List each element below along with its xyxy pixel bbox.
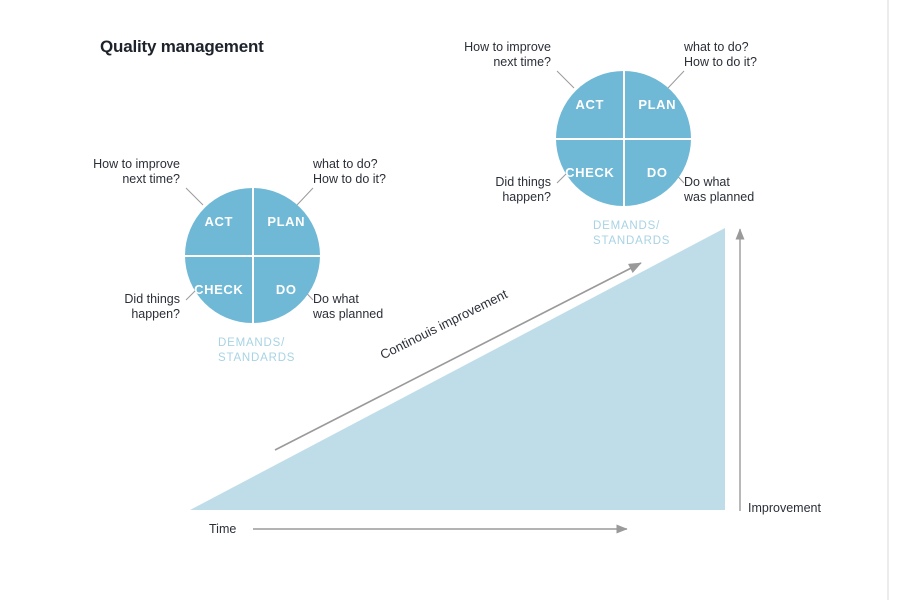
wheel-quadrant-check-label: CHECK [194,282,243,297]
wheel-quadrant-act[interactable]: ACT [185,188,253,256]
callout-check-lower-left: Did things happen? [62,292,180,322]
diagram-canvas: Quality management ACT [0,0,900,600]
callout-plan-upper-right: what to do? How to do it? [684,40,814,70]
wheel-quadrant-check[interactable]: CHECK [556,139,624,207]
wheel-horizontal-divider [556,138,691,140]
wheel-quadrant-act-label: ACT [204,214,233,229]
callout-do-upper-right: Do what was planned [684,175,814,205]
improvement-axis-label: Improvement [748,501,821,515]
callout-plan-lower-left: what to do? How to do it? [313,157,443,187]
wheel-quadrant-plan-label: PLAN [267,214,305,229]
callout-check-upper-right: Did things happen? [433,175,551,205]
wheel-quadrant-plan[interactable]: PLAN [253,188,321,256]
wheel-quadrant-check[interactable]: CHECK [185,256,253,324]
demands-standards-label-lower-left: DEMANDS/ STANDARDS [218,336,358,366]
pdca-wheel-upper-right[interactable]: ACT PLAN CHECK DO [556,71,691,206]
callout-act-lower-left: How to improve next time? [62,157,180,187]
wheel-quadrant-act-label: ACT [575,97,604,112]
wheel-quadrant-act[interactable]: ACT [556,71,624,139]
demands-standards-label-upper-right: DEMANDS/ STANDARDS [593,219,733,249]
wheel-quadrant-do[interactable]: DO [253,256,321,324]
wheel-quadrant-check-label: CHECK [565,165,614,180]
wheel-horizontal-divider [185,255,320,257]
callout-do-lower-left: Do what was planned [313,292,443,322]
wheel-quadrant-plan-label: PLAN [638,97,676,112]
wheel-quadrant-do-label: DO [647,165,668,180]
pdca-wheel-lower-left[interactable]: ACT PLAN CHECK DO [185,188,320,323]
wheel-quadrant-plan[interactable]: PLAN [624,71,692,139]
wheel-quadrant-do[interactable]: DO [624,139,692,207]
callout-act-upper-right: How to improve next time? [433,40,551,70]
time-axis-label: Time [209,522,236,536]
wheel-quadrant-do-label: DO [276,282,297,297]
